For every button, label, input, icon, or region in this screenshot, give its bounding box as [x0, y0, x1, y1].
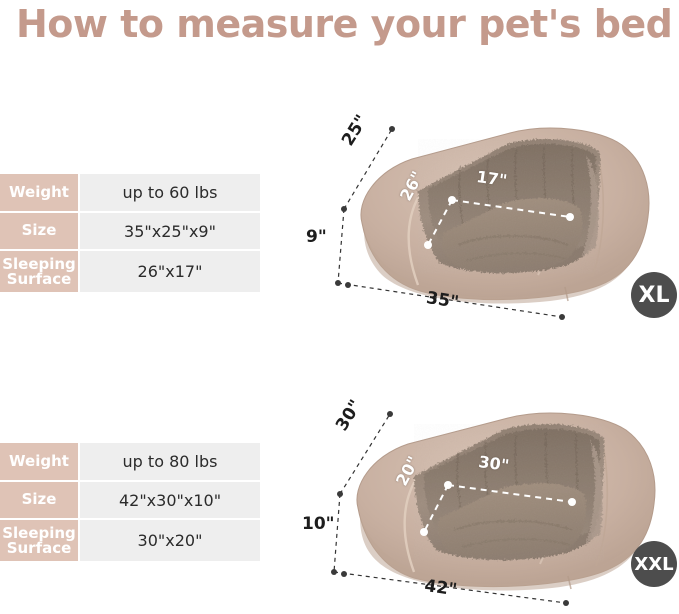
size-badge-label: XXL — [634, 554, 673, 575]
dim-label-width-bottom: 42" — [423, 576, 458, 600]
table-row: Sleeping Surface 30"x20" — [0, 519, 260, 561]
table-row: Size 42"x30"x10" — [0, 481, 260, 519]
dim-label-height-left: 9" — [306, 227, 327, 247]
spec-label-size: Size — [0, 481, 79, 519]
table-row: Weight up to 60 lbs — [0, 174, 260, 212]
xxl-bed-illustration: 30" 10" 42" 30" 20" — [300, 392, 679, 607]
xxl-spec-table: Weight up to 80 lbs Size 42"x30"x10" Sle… — [0, 443, 260, 561]
spec-label-weight: Weight — [0, 174, 79, 212]
page-title: How to measure your pet's bed — [16, 2, 676, 46]
xxl-bed-graphic — [300, 392, 679, 607]
spec-label-size: Size — [0, 212, 79, 250]
spec-label-line-2: Surface — [0, 272, 78, 287]
table-row: Sleeping Surface 26"x17" — [0, 250, 260, 292]
spec-value-weight: up to 80 lbs — [79, 443, 260, 481]
dim-label-sleep-width: 17" — [475, 167, 508, 190]
spec-value-weight: up to 60 lbs — [79, 174, 260, 212]
size-badge-xxl: XXL — [631, 541, 677, 587]
spec-label-weight: Weight — [0, 443, 79, 481]
spec-label-sleeping-surface: Sleeping Surface — [0, 519, 79, 561]
spec-label-sleeping-surface: Sleeping Surface — [0, 250, 79, 292]
spec-label-line-2: Surface — [0, 541, 78, 556]
spec-value-size: 35"x25"x9" — [79, 212, 260, 250]
size-badge-label: XL — [639, 283, 670, 308]
table-row: Size 35"x25"x9" — [0, 212, 260, 250]
spec-value-sleeping-surface: 26"x17" — [79, 250, 260, 292]
dim-label-height-left: 10" — [302, 514, 335, 534]
xl-bed-illustration: 25" 9" 35" 17" 26" — [300, 105, 679, 330]
table-row: Weight up to 80 lbs — [0, 443, 260, 481]
spec-value-size: 42"x30"x10" — [79, 481, 260, 519]
size-badge-xl: XL — [631, 272, 677, 318]
xl-spec-table: Weight up to 60 lbs Size 35"x25"x9" Slee… — [0, 174, 260, 292]
dim-label-sleep-width: 30" — [477, 452, 510, 475]
spec-value-sleeping-surface: 30"x20" — [79, 519, 260, 561]
